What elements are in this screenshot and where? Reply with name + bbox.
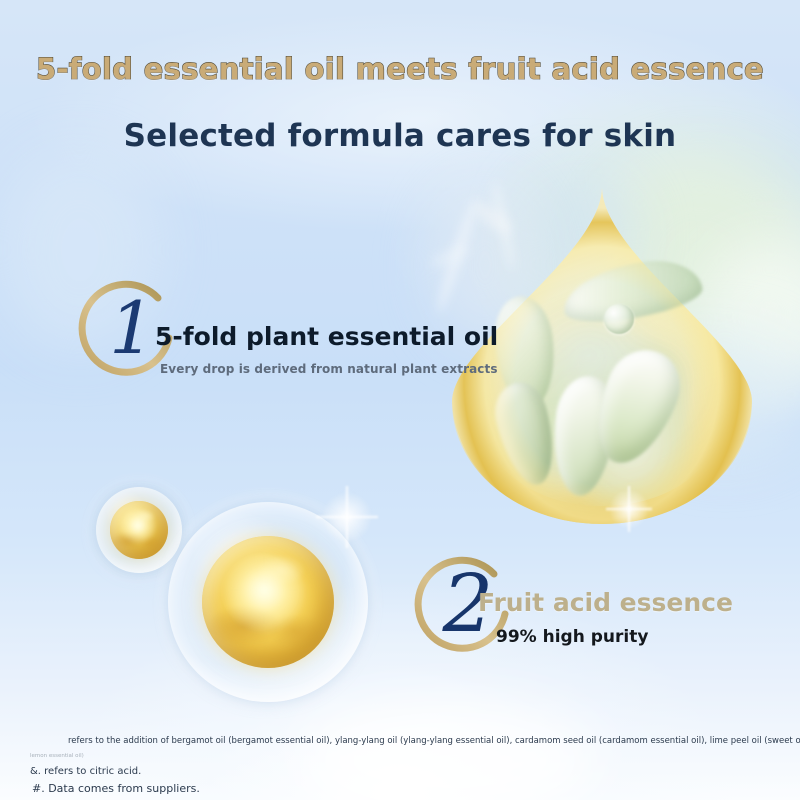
- oil-droplet-icon: [452, 186, 752, 526]
- footnote-line-1-continuation: lemon essential oil): [30, 753, 84, 759]
- bubble-core-highlight: [120, 509, 156, 545]
- background-bokeh-blob: [300, 700, 600, 800]
- section-1-caption: Every drop is derived from natural plant…: [160, 362, 498, 376]
- page-title: 5-fold essential oil meets fruit acid es…: [0, 52, 800, 86]
- sparkle-icon: [316, 486, 378, 548]
- section-2-title: Fruit acid essence: [478, 588, 733, 617]
- droplet-rim-glow: [452, 186, 752, 526]
- footnote-line-3: #. Data comes from suppliers.: [32, 782, 200, 795]
- section-2-caption: 99% high purity: [496, 627, 648, 647]
- product-promo-poster: 5-fold essential oil meets fruit acid es…: [0, 0, 800, 800]
- footnote-line-2: &. refers to citric acid.: [30, 766, 141, 777]
- page-subtitle: Selected formula cares for skin: [0, 118, 800, 154]
- section-1-title: 5-fold plant essential oil: [155, 322, 498, 351]
- sparkle-icon: [606, 486, 652, 532]
- footnote-line-1: refers to the addition of bergamot oil (…: [68, 736, 800, 746]
- bubble-core-highlight: [224, 554, 304, 634]
